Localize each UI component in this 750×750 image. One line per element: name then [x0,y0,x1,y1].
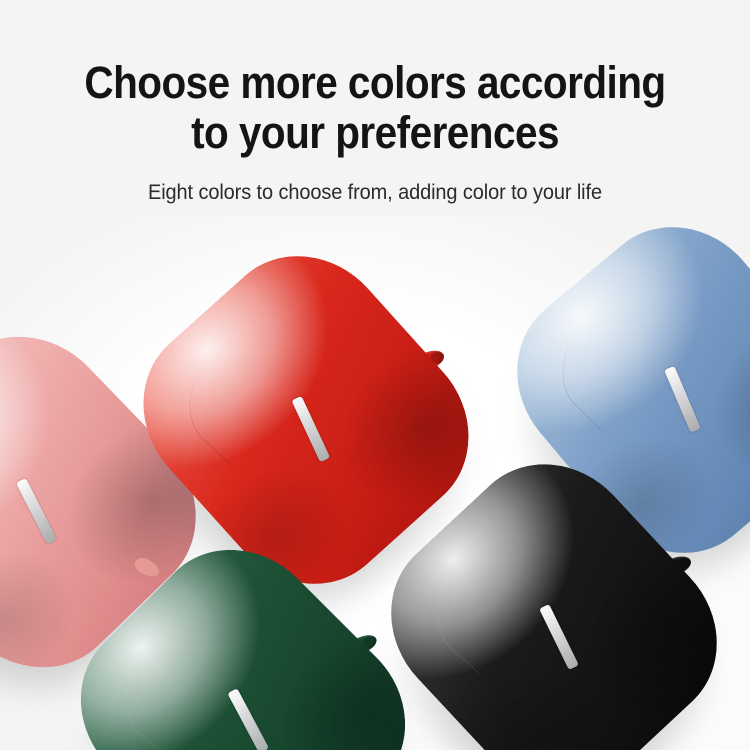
product-banner: Choose more colors according to your pre… [0,0,750,750]
banner-text: Choose more colors according to your pre… [0,0,750,205]
page-subtitle: Eight colors to choose from, adding colo… [19,181,732,205]
page-title: Choose more colors according to your pre… [38,58,713,159]
